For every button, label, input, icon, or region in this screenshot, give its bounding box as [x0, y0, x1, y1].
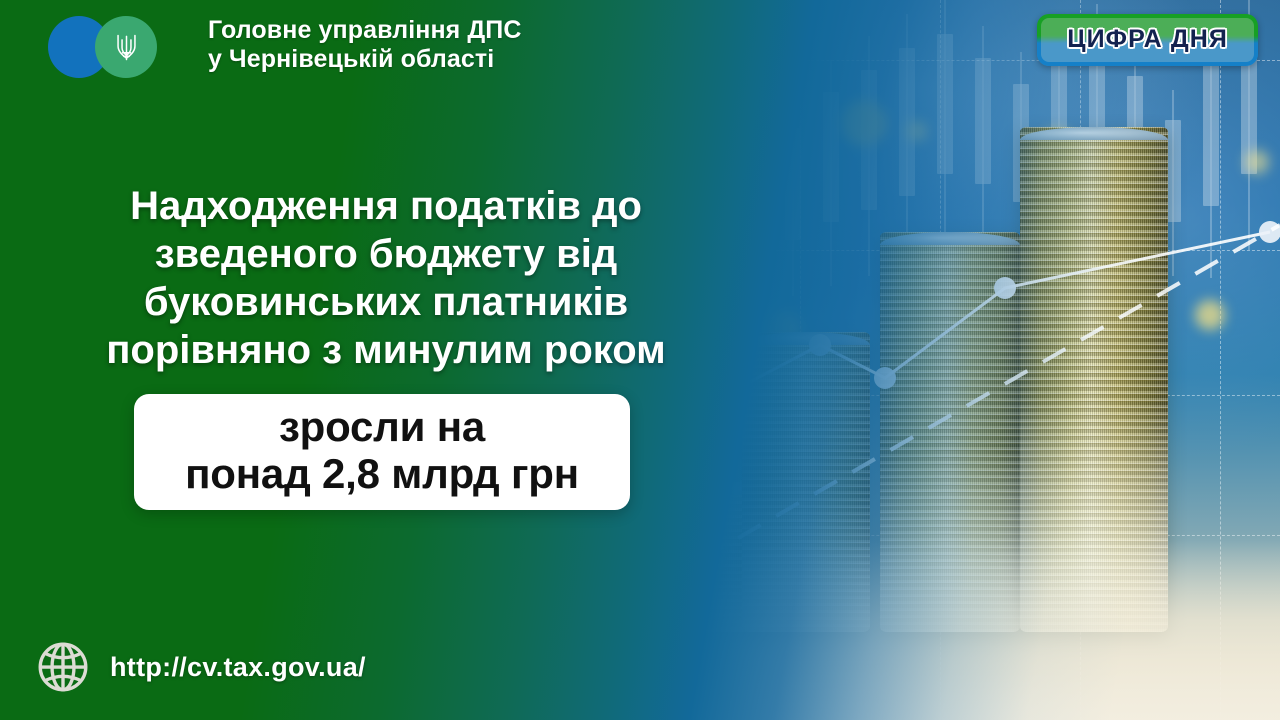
- highlight-callout-box: зросли на понад 2,8 млрд грн: [134, 394, 630, 510]
- badge-inner: ЦИФРА ДНЯ: [1041, 18, 1254, 62]
- organization-name: Головне управління ДПС у Чернівецькій об…: [208, 16, 522, 74]
- badge-label: ЦИФРА ДНЯ: [1067, 25, 1228, 54]
- footer: http://cv.tax.gov.ua/: [36, 640, 366, 694]
- headline-text: Надходження податків до зведеного бюджет…: [36, 182, 736, 374]
- website-url[interactable]: http://cv.tax.gov.ua/: [110, 652, 366, 683]
- callout-figure-text: зросли на понад 2,8 млрд грн: [150, 403, 614, 497]
- poster-canvas: Головне управління ДПС у Чернівецькій об…: [0, 0, 1280, 720]
- globe-icon: [36, 640, 90, 694]
- logo-green-circle: [95, 16, 157, 78]
- agency-logo: [48, 14, 190, 76]
- ukraine-trident-icon: [113, 31, 140, 63]
- header: Головне управління ДПС у Чернівецькій об…: [48, 14, 522, 76]
- figure-of-the-day-badge: ЦИФРА ДНЯ: [1037, 14, 1258, 66]
